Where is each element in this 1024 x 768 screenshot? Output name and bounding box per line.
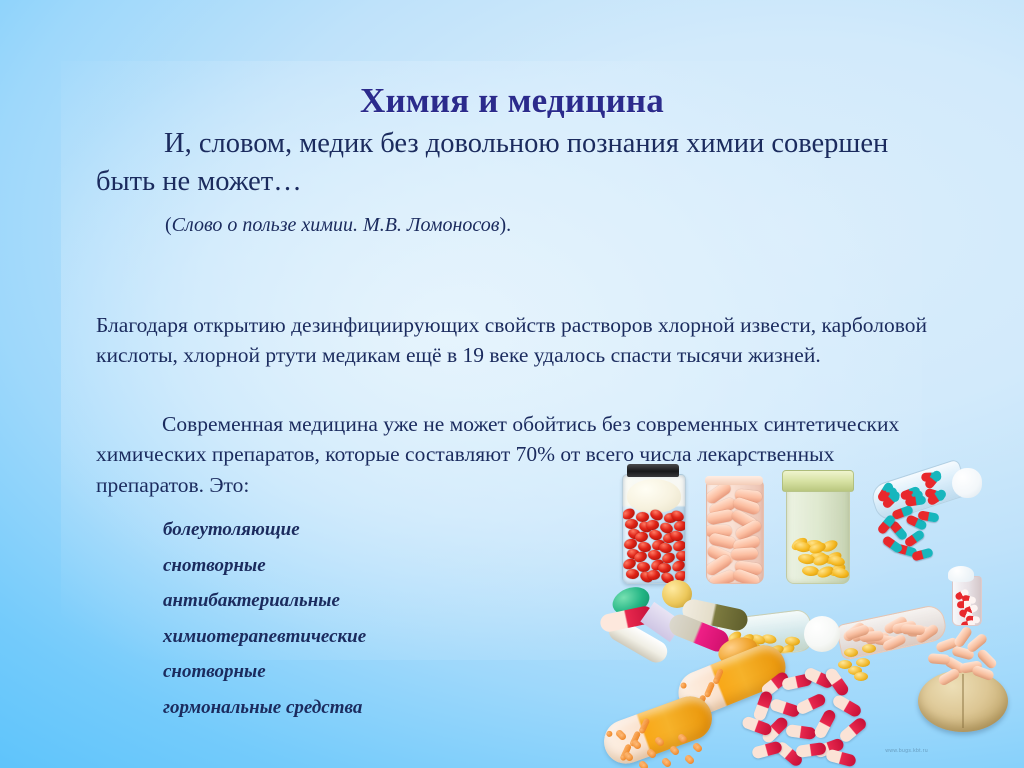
attribution-source: Слово о пользе химии. М.В. Ломоносов: [172, 214, 500, 236]
yellow-tablet: [838, 660, 852, 669]
pink-white-capsule: [795, 692, 827, 716]
list-item: химиотерапевтические: [163, 626, 366, 648]
page-title: Химия и медицина: [0, 81, 1024, 121]
pink-white-capsule: [813, 708, 838, 740]
paragraph-disinfectants: Благодаря открытию дезинфициирующих свой…: [96, 310, 941, 371]
yellow-tablet: [862, 644, 876, 653]
granule: [672, 748, 679, 755]
list-item: антибактериальные: [163, 590, 366, 612]
granule: [680, 682, 688, 690]
granule: [606, 730, 614, 738]
granule: [641, 763, 648, 768]
presentation-slide: Химия и медицина И, словом, медик без до…: [0, 0, 1024, 768]
yellow-tablet: [844, 648, 858, 657]
granule: [687, 757, 694, 764]
granule: [619, 733, 626, 740]
pills-and-bottles-photo: [600, 462, 1024, 768]
list-item: болеутоляющие: [163, 519, 366, 541]
attribution-open-paren: (: [165, 214, 172, 236]
granule: [649, 751, 656, 758]
list-item: снотворные: [163, 661, 366, 683]
red-pill: [626, 569, 639, 579]
small-vial-with-red-capsules-icon: [952, 576, 982, 626]
peach-capsule: [901, 624, 925, 635]
granule: [634, 742, 641, 749]
bottle-with-yellow-tablets-icon: [786, 486, 850, 584]
granule: [695, 745, 702, 752]
pink-white-capsule: [838, 716, 869, 744]
attribution-close-paren: ).: [499, 214, 511, 236]
small-vial-lid-icon: [948, 566, 974, 582]
green-bottle-cap-icon: [782, 470, 854, 492]
granule: [664, 760, 671, 767]
watermark: www.bugs.kbt.ru: [885, 748, 928, 754]
yellow-tablet: [831, 566, 850, 579]
lomonosov-quote: И, словом, медик без довольною познания …: [96, 125, 926, 201]
granule: [626, 754, 633, 761]
granule: [657, 739, 664, 746]
bottle-rim-icon: [705, 476, 763, 485]
granule: [680, 736, 687, 743]
yellow-tablet: [854, 672, 868, 681]
clear-bottle-lid-icon: [804, 616, 840, 652]
black-bottle-cap-icon: [627, 464, 679, 477]
peach-capsule: [928, 653, 951, 665]
drug-category-list: болеутоляющие снотворные антибактериальн…: [163, 519, 366, 732]
list-item: гормональные средства: [163, 697, 366, 719]
quote-attribution: (Слово о пользе химии. М.В. Ломоносов).: [165, 214, 925, 237]
large-orange-capsule-icon: [598, 690, 718, 768]
pink-white-capsule: [785, 724, 816, 740]
pink-white-capsule: [751, 740, 783, 759]
red-pill: [647, 570, 660, 580]
list-item: снотворные: [163, 555, 366, 577]
peach-capsule: [731, 547, 759, 561]
pink-white-capsule: [825, 748, 857, 767]
glass-bottle-with-red-pills-icon: [622, 474, 686, 584]
red-white-capsule: [960, 620, 975, 626]
bottle-with-peach-capsules-icon: [706, 480, 764, 584]
vial-lid-icon: [952, 468, 982, 498]
large-beige-tablet-icon: [918, 670, 1008, 732]
pink-white-capsule: [831, 693, 863, 718]
